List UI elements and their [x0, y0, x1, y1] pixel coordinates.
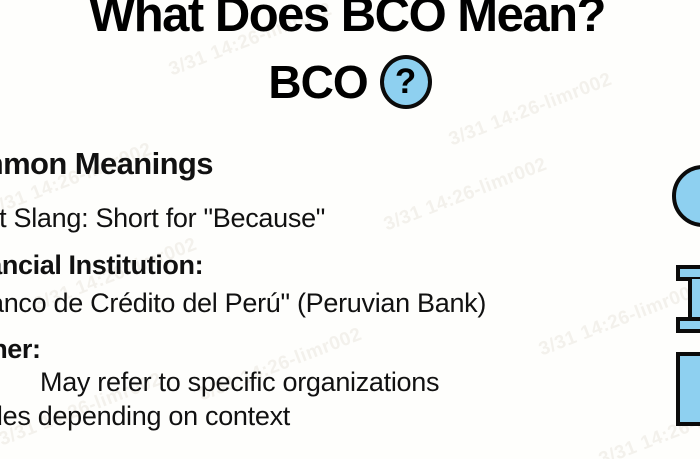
- subtitle-acronym: BCO: [268, 59, 367, 105]
- page-root: 3/31 14:26-limr002 3/31 14:26-limr002 3/…: [0, 0, 700, 459]
- meaning-line-other-1: May refer to specific organizations: [40, 367, 439, 398]
- section-heading-common-meanings: Common Meanings: [0, 146, 213, 182]
- meaning-line-text-slang: Text Slang: Short for "Because": [0, 203, 325, 234]
- subtitle-row: BCO ?: [0, 55, 700, 109]
- meaning-label-other: Other:: [0, 334, 41, 365]
- meaning-line-financial-institution: "Banco de Crédito del Perú" (Peruvian Ba…: [0, 288, 486, 319]
- meaning-label-financial-institution: Financial Institution:: [0, 250, 203, 281]
- content-area: What Does BCO Mean? BCO ? Common Meaning…: [0, 0, 700, 459]
- question-mark-badge-icon: ?: [380, 55, 432, 109]
- page-title: What Does BCO Mean?: [0, 0, 700, 41]
- meaning-line-other-2: codes depending on context: [0, 401, 290, 432]
